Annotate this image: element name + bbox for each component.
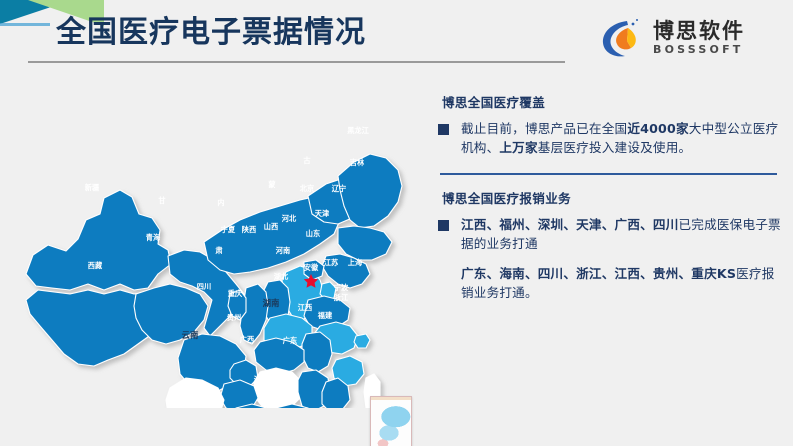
province-label-河南: 河南	[276, 246, 290, 255]
province-label-青海: 青海	[146, 233, 161, 242]
province-shape-湖南	[254, 368, 302, 408]
brand-logo: 博思软件 BOSSSOFT	[597, 12, 775, 64]
section-2-row: 江西、福州、深圳、天津、广西、四川已完成医保电子票据的业务打通 广东、海南、四川…	[438, 215, 783, 302]
page-title: 全国医疗电子票据情况	[56, 14, 366, 52]
province-label-甘: 甘	[158, 196, 165, 205]
province-label-宁夏: 宁夏	[221, 225, 236, 234]
province-label-广西: 广西	[240, 335, 254, 344]
province-label-肃: 肃	[215, 246, 222, 255]
slide-canvas: 全国医疗电子票据情况 博思软件 BOSSSOFT 新疆西藏青海甘肃内蒙古宁夏陕西…	[0, 0, 793, 446]
section-2-heading: 博思全国医疗报销业务	[442, 188, 783, 207]
province-label-蒙: 蒙	[268, 180, 275, 189]
section-2-para-2: 广东、海南、四川、浙江、江西、贵州、重庆KS医疗报销业务打通。	[461, 264, 783, 302]
province-label-天津: 天津	[315, 209, 330, 218]
province-label-广东: 广东	[283, 336, 297, 345]
info-panel: 博思全国医疗覆盖 截止目前，博思产品已在全国近4000家大中型公立医疗机构、上万…	[438, 92, 783, 302]
province-shape-吉林	[338, 226, 392, 260]
square-bullet-icon-2	[438, 220, 449, 231]
province-label-江西: 江西	[298, 303, 312, 312]
province-label-重庆: 重庆	[228, 289, 243, 298]
province-label-山东: 山东	[306, 229, 320, 238]
province-label-山西: 山西	[264, 222, 278, 231]
province-label-宁波: 宁波	[334, 283, 349, 292]
province-label-安徽: 安徽	[304, 263, 319, 272]
province-shape-上海	[354, 334, 370, 348]
province-label-福建: 福建	[317, 311, 333, 320]
province-label-湖北: 湖北	[274, 272, 289, 281]
corner-strip	[0, 23, 50, 26]
bosssoft-swoosh-icon	[597, 15, 647, 61]
china-map-svg: 新疆西藏青海甘肃内蒙古宁夏陕西山西黑龙江吉林辽宁北京天津河北山东河南江苏上海安徽…	[8, 78, 428, 408]
section-1-row: 截止目前，博思产品已在全国近4000家大中型公立医疗机构、上万家基层医疗投入建设…	[438, 119, 783, 157]
logo-text-en: BOSSSOFT	[653, 43, 745, 56]
square-bullet-icon	[438, 124, 449, 135]
province-label-湖南: 湖南	[263, 298, 280, 308]
south-china-sea-inset	[370, 396, 412, 446]
province-label-云南: 云南	[182, 330, 199, 340]
province-label-吉林: 吉林	[350, 158, 365, 167]
province-label-江苏: 江苏	[324, 258, 339, 267]
section-2-body: 江西、福州、深圳、天津、广西、四川已完成医保电子票据的业务打通 广东、海南、四川…	[461, 215, 783, 302]
province-label-西藏: 西藏	[88, 261, 103, 270]
province-label-新疆: 新疆	[85, 183, 100, 192]
china-map: 新疆西藏青海甘肃内蒙古宁夏陕西山西黑龙江吉林辽宁北京天津河北山东河南江苏上海安徽…	[8, 78, 428, 408]
title-divider	[28, 61, 565, 63]
province-label-古: 古	[303, 156, 310, 165]
section-1-text: 截止目前，博思产品已在全国近4000家大中型公立医疗机构、上万家基层医疗投入建设…	[461, 119, 783, 157]
province-label-陕西: 陕西	[242, 225, 256, 234]
province-label-贵州: 贵州	[227, 313, 241, 322]
section-1-heading: 博思全国医疗覆盖	[442, 92, 783, 111]
province-label-辽宁: 辽宁	[332, 184, 346, 193]
province-label-黑龙江: 黑龙江	[347, 126, 369, 135]
section-2-para-1: 江西、福州、深圳、天津、广西、四川已完成医保电子票据的业务打通	[461, 215, 783, 253]
province-label-海南: 海南	[254, 375, 268, 384]
province-label-四川: 四川	[197, 282, 211, 291]
province-shape-安徽	[302, 332, 332, 372]
province-label-北京: 北京	[300, 184, 314, 193]
logo-text-cn: 博思软件	[653, 20, 745, 43]
province-label-上海: 上海	[348, 258, 363, 267]
province-label-浙江: 浙江	[334, 293, 349, 302]
province-label-河北: 河北	[282, 214, 297, 223]
section-divider	[440, 173, 777, 175]
province-label-内: 内	[217, 198, 224, 207]
